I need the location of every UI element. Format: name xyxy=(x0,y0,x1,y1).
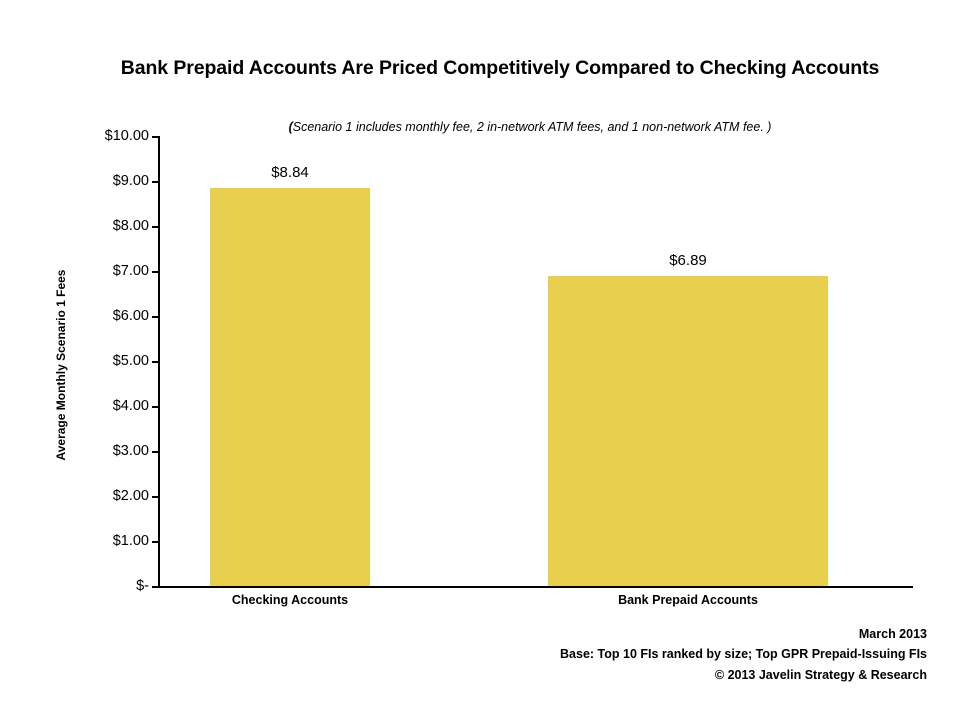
y-axis-line xyxy=(158,136,160,588)
bar-value-label: $6.89 xyxy=(548,252,828,269)
y-tick-label: $7.00 xyxy=(29,263,149,279)
y-tick-label: $- xyxy=(29,578,149,594)
y-tick-label: $4.00 xyxy=(29,398,149,414)
y-tick-mark xyxy=(152,226,158,228)
chart-subtitle: (Scenario 1 includes monthly fee, 2 in-n… xyxy=(150,120,910,134)
y-tick-label: $1.00 xyxy=(29,533,149,549)
footnote-base: Base: Top 10 FIs ranked by size; Top GPR… xyxy=(560,644,927,664)
chart-subtitle-text: Scenario 1 includes monthly fee, 2 in-ne… xyxy=(293,120,772,134)
y-tick-label: $10.00 xyxy=(29,128,149,144)
y-tick-mark xyxy=(152,271,158,273)
bar-bank-prepaid-accounts[interactable] xyxy=(548,276,828,586)
y-tick-label: $6.00 xyxy=(29,308,149,324)
chart-title-block: Bank Prepaid Accounts Are Priced Competi… xyxy=(80,55,920,81)
footnote-copyright: © 2013 Javelin Strategy & Research xyxy=(560,665,927,685)
y-tick-label: $5.00 xyxy=(29,353,149,369)
bar-checking-accounts[interactable] xyxy=(210,188,370,586)
y-tick-mark xyxy=(152,406,158,408)
x-axis-line xyxy=(158,586,913,588)
y-tick-mark xyxy=(152,361,158,363)
y-tick-label: $3.00 xyxy=(29,443,149,459)
y-tick-mark xyxy=(152,181,158,183)
bar-chart: Bank Prepaid Accounts Are Priced Competi… xyxy=(0,0,960,720)
y-tick-label: $9.00 xyxy=(29,173,149,189)
y-tick-mark xyxy=(152,496,158,498)
y-tick-mark xyxy=(152,451,158,453)
y-tick-label: $2.00 xyxy=(29,488,149,504)
y-tick-mark xyxy=(152,586,158,588)
y-tick-mark xyxy=(152,316,158,318)
footnote-date: March 2013 xyxy=(560,624,927,644)
bar-value-label: $8.84 xyxy=(210,164,370,181)
x-category-label-bank-prepaid: Bank Prepaid Accounts xyxy=(548,593,828,607)
footnotes: March 2013 Base: Top 10 FIs ranked by si… xyxy=(560,624,927,685)
y-tick-mark xyxy=(152,541,158,543)
page-title: Bank Prepaid Accounts Are Priced Competi… xyxy=(80,55,920,81)
y-tick-mark xyxy=(152,136,158,138)
x-category-label-checking: Checking Accounts xyxy=(200,593,380,607)
y-tick-label: $8.00 xyxy=(29,218,149,234)
plot-area: $10.00 $9.00 $8.00 $7.00 $6.00 $5.00 $4.… xyxy=(158,136,913,588)
